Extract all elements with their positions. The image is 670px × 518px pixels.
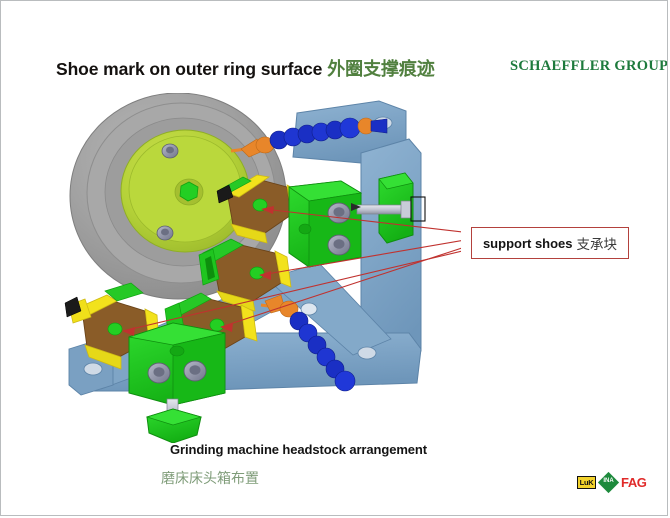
slide-canvas: Shoe mark on outer ring surface外圈支撑痕迹 SC… (0, 0, 668, 516)
schaeffler-group-wordmark: SCHAEFFLER GROUP (510, 58, 668, 75)
ina-logo-text: INA (600, 478, 617, 484)
page-title-english: Shoe mark on outer ring surface (56, 59, 322, 79)
figure-caption-chinese: 磨床床头箱布置 (161, 468, 259, 488)
mounting-block-lower (129, 323, 225, 405)
luk-logo-text: LuK (580, 479, 594, 487)
ina-logo: INA (600, 474, 617, 491)
base-pedestal (147, 399, 201, 443)
callout-support-shoes[interactable]: support shoes支承块 (471, 227, 629, 259)
hub-bolt (157, 226, 173, 240)
callout-label-chinese: 支承块 (577, 233, 618, 253)
figure-caption-english: Grinding machine headstock arrangement (170, 442, 427, 457)
page-title: Shoe mark on outer ring surface外圈支撑痕迹 (56, 55, 435, 81)
grinding-machine-headstock-figure (61, 93, 461, 443)
fag-logo: FAG (621, 476, 647, 489)
page-title-chinese: 外圈支撑痕迹 (327, 59, 434, 80)
luk-logo: LuK (577, 476, 596, 489)
footer-brand-logos: LuK INA FAG (577, 474, 647, 491)
hub-bolt (162, 144, 178, 158)
callout-label-english: support shoes (483, 236, 573, 251)
mounting-block-upper (289, 181, 361, 267)
